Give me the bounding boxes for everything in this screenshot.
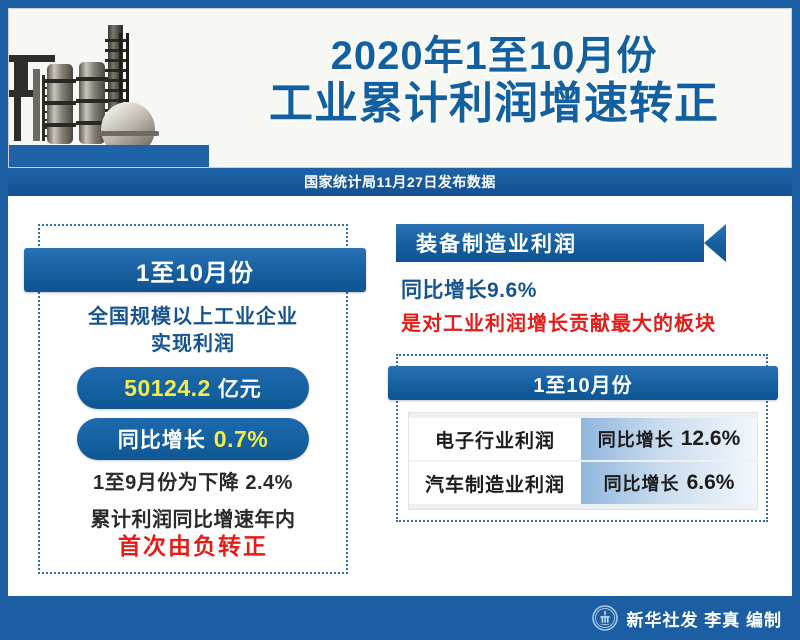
row-metric-cell: 同比增长 6.6%: [581, 462, 757, 504]
left-lead-line-2: 实现利润: [40, 331, 346, 358]
industry-table-block: 1至10月份 电子行业利润 同比增长 12.6% 汽车制造业利润 同比增长: [396, 354, 768, 522]
table-header-label: 1至10月份: [533, 369, 632, 398]
subtitle-bar: 国家统计局11月27日发布数据: [8, 168, 792, 196]
left-note-line-2: 累计利润同比增速年内: [40, 507, 346, 534]
table-header-ribbon: 1至10月份: [388, 366, 778, 400]
right-stat-panel: 装备制造业利润 同比增长9.6% 是对工业利润增长贡献最大的板块 1至10月份 …: [396, 224, 768, 574]
title-line-2: 工业累计利润增速转正: [204, 80, 784, 128]
left-panel-ribbon-label: 1至10月份: [136, 253, 254, 288]
profit-value-pill: 50124.2 亿元: [77, 367, 309, 409]
footer-credit: 新华社发 李真 编制: [627, 606, 782, 631]
growth-label: 同比增长: [118, 424, 206, 454]
left-highlight-text: 首次由负转正: [40, 533, 346, 561]
content-area: 1至10月份 全国规模以上工业企业 实现利润 50124.2 亿元 同比增长 0…: [8, 196, 792, 596]
row-metric-label: 同比增长: [604, 470, 680, 496]
refinery-plant-illustration: [9, 9, 209, 168]
row-metric-value: 12.6%: [681, 427, 741, 451]
row-metric-cell: 同比增长 12.6%: [581, 418, 757, 460]
industry-table: 电子行业利润 同比增长 12.6% 汽车制造业利润 同比增长 6.6%: [408, 412, 758, 510]
infographic-page: 2020年1至10月份 工业累计利润增速转正 国家统计局11月27日发布数据 1…: [0, 0, 800, 640]
left-panel-body: 全国规模以上工业企业 实现利润 50124.2 亿元 同比增长 0.7% 1至9…: [40, 304, 346, 561]
row-industry-name: 电子行业利润: [409, 418, 581, 460]
equipment-highlight-text: 是对工业利润增长贡献最大的板块: [401, 307, 768, 336]
row-metric-label: 同比增长: [598, 426, 674, 452]
left-lead-line-1: 全国规模以上工业企业: [40, 304, 346, 331]
header-banner: 2020年1至10月份 工业累计利润增速转正: [8, 8, 792, 168]
left-panel-ribbon: 1至10月份: [24, 248, 366, 292]
table-row: 电子行业利润 同比增长 12.6%: [409, 418, 757, 460]
left-stat-panel: 1至10月份 全国规模以上工业企业 实现利润 50124.2 亿元 同比增长 0…: [38, 224, 348, 574]
profit-unit: 亿元: [218, 373, 262, 403]
xinhua-logo-icon: [592, 605, 618, 631]
page-title: 2020年1至10月份 工业累计利润增速转正: [204, 35, 784, 128]
profit-value: 50124.2: [124, 375, 211, 402]
growth-value: 0.7%: [214, 426, 268, 453]
equipment-growth-text: 同比增长9.6%: [401, 274, 768, 304]
title-line-1: 2020年1至10月份: [204, 35, 784, 78]
growth-value-pill: 同比增长 0.7%: [77, 418, 309, 460]
left-note-line-1: 1至9月份为下降 2.4%: [40, 470, 346, 497]
equipment-banner: 装备制造业利润: [396, 224, 726, 262]
table-row: 汽车制造业利润 同比增长 6.6%: [409, 462, 757, 504]
banner-chevron-icon: [704, 224, 726, 262]
equipment-banner-label: 装备制造业利润: [416, 228, 577, 258]
footer-bar: 新华社发 李真 编制: [0, 596, 800, 640]
row-metric-value: 6.6%: [687, 471, 735, 495]
row-industry-name: 汽车制造业利润: [409, 462, 581, 504]
